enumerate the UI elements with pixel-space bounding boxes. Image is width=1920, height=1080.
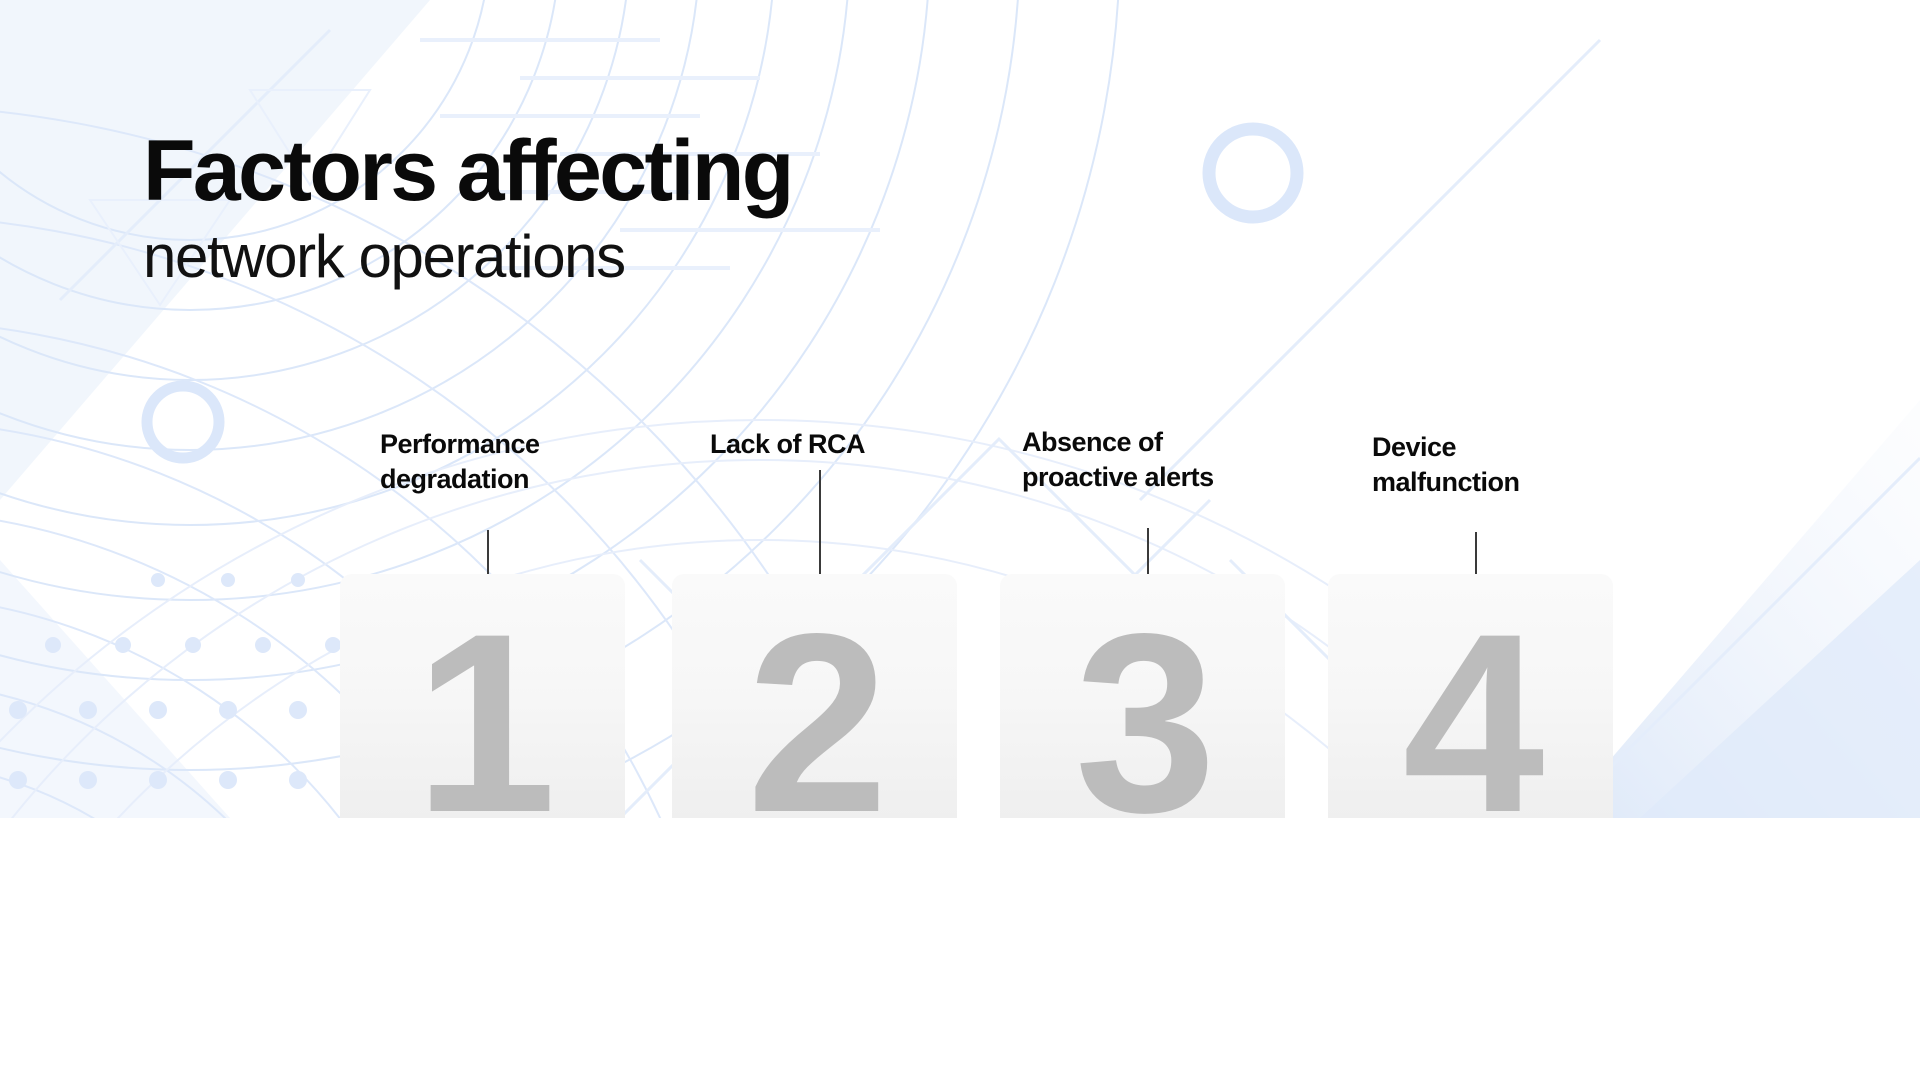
factor-label-4: Device malfunction: [1372, 430, 1672, 499]
factor-label-3: Absence of proactive alerts: [1022, 425, 1322, 494]
page-whitespace: [0, 818, 1920, 1080]
factor-label-1: Performance degradation: [380, 427, 640, 496]
heading-block: Factors affecting network operations: [143, 128, 792, 293]
factor-label-2: Lack of RCA: [710, 427, 970, 462]
factor-card-3[interactable]: Absence of proactive alerts 3: [1000, 0, 1285, 818]
card-number-2: 2: [672, 574, 957, 818]
card-number-3: 3: [1000, 574, 1285, 818]
slide-canvas: Factors affecting network operations Per…: [0, 0, 1920, 818]
card-number-1: 1: [340, 574, 625, 818]
page-subtitle: network operations: [143, 222, 792, 293]
factor-card-4[interactable]: Device malfunction 4: [1328, 0, 1613, 818]
page-title: Factors affecting: [143, 128, 792, 216]
card-number-4: 4: [1328, 574, 1613, 818]
